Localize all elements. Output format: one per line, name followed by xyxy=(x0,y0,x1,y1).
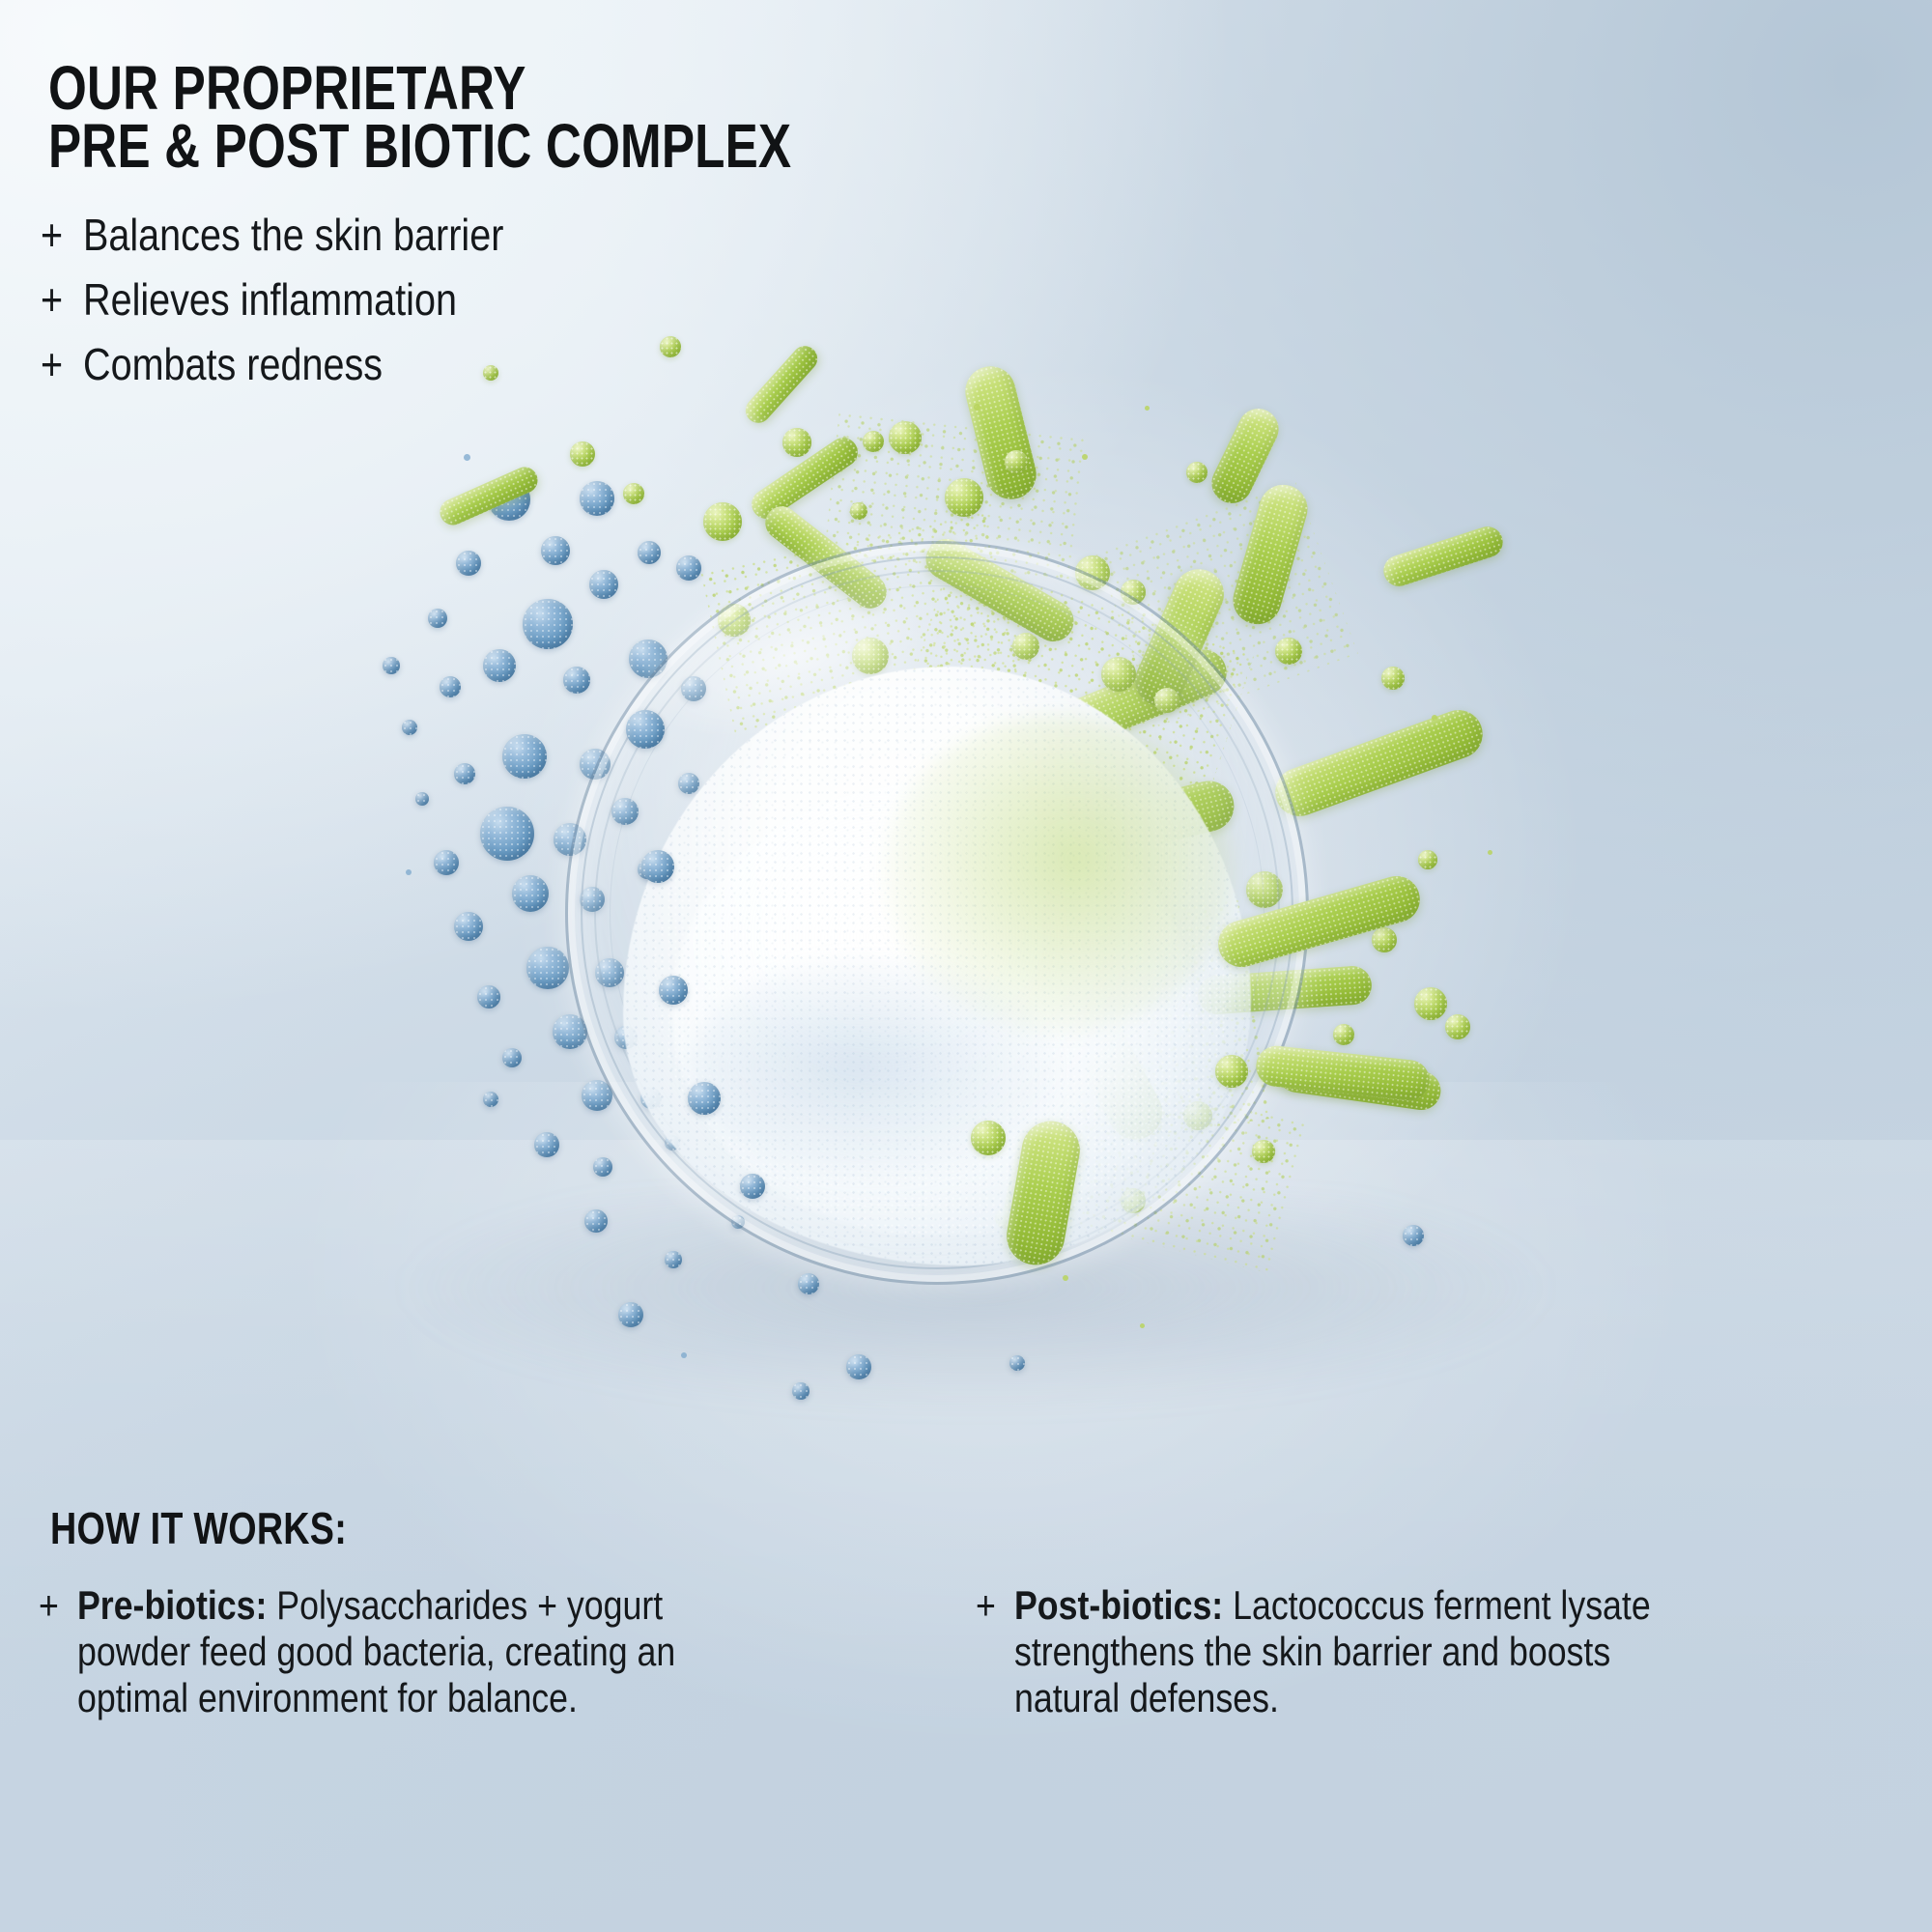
green-ball-particle xyxy=(660,336,681,357)
dust-mote xyxy=(974,404,980,411)
postbiotics-column: + Post-biotics: Lactococcus ferment lysa… xyxy=(976,1582,1826,1721)
how-it-works-heading: HOW IT WORKS: xyxy=(50,1502,347,1554)
dust-mote xyxy=(1140,1323,1145,1328)
postbiotics-description: Post-biotics: Lactococcus ferment lysate… xyxy=(1014,1582,1704,1721)
green-ball-particle xyxy=(1414,987,1447,1020)
blue-cocci-particle xyxy=(1403,1225,1424,1246)
blue-cocci-particle xyxy=(415,792,429,806)
green-ball-particle xyxy=(1186,462,1207,483)
blue-cocci-particle xyxy=(512,875,549,912)
green-ball-particle xyxy=(850,502,867,520)
blue-cocci-particle xyxy=(477,985,500,1009)
blue-cocci-particle xyxy=(440,676,461,697)
blue-cocci-particle xyxy=(454,912,483,941)
dust-mote xyxy=(1063,1275,1068,1281)
blue-cocci-particle xyxy=(688,1082,721,1115)
green-ball-particle xyxy=(1005,450,1028,473)
green-rod-particle xyxy=(741,341,823,428)
prebiotics-term: Pre-biotics: xyxy=(77,1582,267,1628)
blue-cocci-particle xyxy=(502,1048,522,1067)
green-ball-particle xyxy=(971,1121,1006,1155)
blue-cocci-particle xyxy=(483,1092,498,1107)
green-ball-particle xyxy=(703,502,742,541)
how-it-works-columns: + Pre-biotics: Polysaccharides + yogurt … xyxy=(39,1582,1913,1721)
blue-cocci-particle xyxy=(402,720,417,735)
page-title: OUR PROPRIETARY PRE & POST BIOTIC COMPLE… xyxy=(48,60,960,175)
blue-cocci-particle xyxy=(534,1132,559,1157)
benefit-label: Balances the skin barrier xyxy=(83,213,503,258)
prebiotics-column: + Pre-biotics: Polysaccharides + yogurt … xyxy=(39,1582,889,1721)
prebiotics-description: Pre-biotics: Polysaccharides + yogurt po… xyxy=(77,1582,767,1721)
blue-cocci-particle xyxy=(792,1382,810,1400)
blue-cocci-particle xyxy=(659,976,688,1005)
green-ball-particle xyxy=(1215,1055,1248,1088)
blue-cocci-particle xyxy=(1009,1355,1025,1371)
postbiotics-term: Post-biotics: xyxy=(1014,1582,1223,1628)
blue-cocci-particle xyxy=(526,947,569,989)
plus-icon: + xyxy=(41,213,77,258)
plus-icon: + xyxy=(41,277,77,323)
green-ball-particle xyxy=(570,441,595,467)
blue-cocci-particle xyxy=(454,763,475,784)
petri-dish xyxy=(565,541,1309,1285)
dust-mote xyxy=(464,454,470,461)
dust-mote xyxy=(406,869,412,875)
blue-cocci-particle xyxy=(618,1302,643,1327)
green-ball-particle xyxy=(1445,1014,1470,1039)
blue-cocci-particle xyxy=(480,807,534,861)
green-ball-particle xyxy=(1372,927,1397,952)
blue-cocci-particle xyxy=(502,734,547,779)
list-item: + Balances the skin barrier xyxy=(41,213,572,258)
green-ball-particle xyxy=(1333,1024,1354,1045)
blue-cocci-particle xyxy=(383,657,400,674)
green-ball-particle xyxy=(1381,667,1405,690)
blue-cocci-particle xyxy=(740,1174,765,1199)
blue-cocci-particle xyxy=(641,850,674,883)
green-ball-particle xyxy=(863,431,884,452)
plus-icon: + xyxy=(41,342,77,387)
powder-green-tint xyxy=(884,715,1232,1034)
plus-icon: + xyxy=(39,1582,71,1629)
blue-cocci-particle xyxy=(580,481,614,516)
benefit-label: Relieves inflammation xyxy=(83,277,457,323)
green-rod-particle xyxy=(1379,523,1507,590)
green-ball-particle xyxy=(782,428,811,457)
plus-icon: + xyxy=(976,1582,1009,1629)
list-item: + Relieves inflammation xyxy=(41,277,572,323)
green-ball-particle xyxy=(483,365,498,381)
blue-cocci-particle xyxy=(456,551,481,576)
blue-cocci-particle xyxy=(846,1354,871,1379)
dust-mote xyxy=(1432,715,1437,721)
dust-mote xyxy=(1082,454,1088,460)
green-ball-particle xyxy=(889,421,922,454)
dust-mote xyxy=(1488,850,1492,855)
dust-mote xyxy=(681,1352,687,1358)
dust-mote xyxy=(1145,406,1150,411)
blue-cocci-particle xyxy=(428,609,447,628)
green-ball-particle xyxy=(945,478,983,517)
product-ingredient-infographic: OUR PROPRIETARY PRE & POST BIOTIC COMPLE… xyxy=(0,0,1932,1932)
blue-cocci-particle xyxy=(626,710,665,749)
green-ball-particle xyxy=(1418,850,1437,869)
blue-cocci-particle xyxy=(434,850,459,875)
green-ball-particle xyxy=(623,483,644,504)
benefit-label: Combats redness xyxy=(83,342,383,387)
blue-cocci-particle xyxy=(483,649,516,682)
